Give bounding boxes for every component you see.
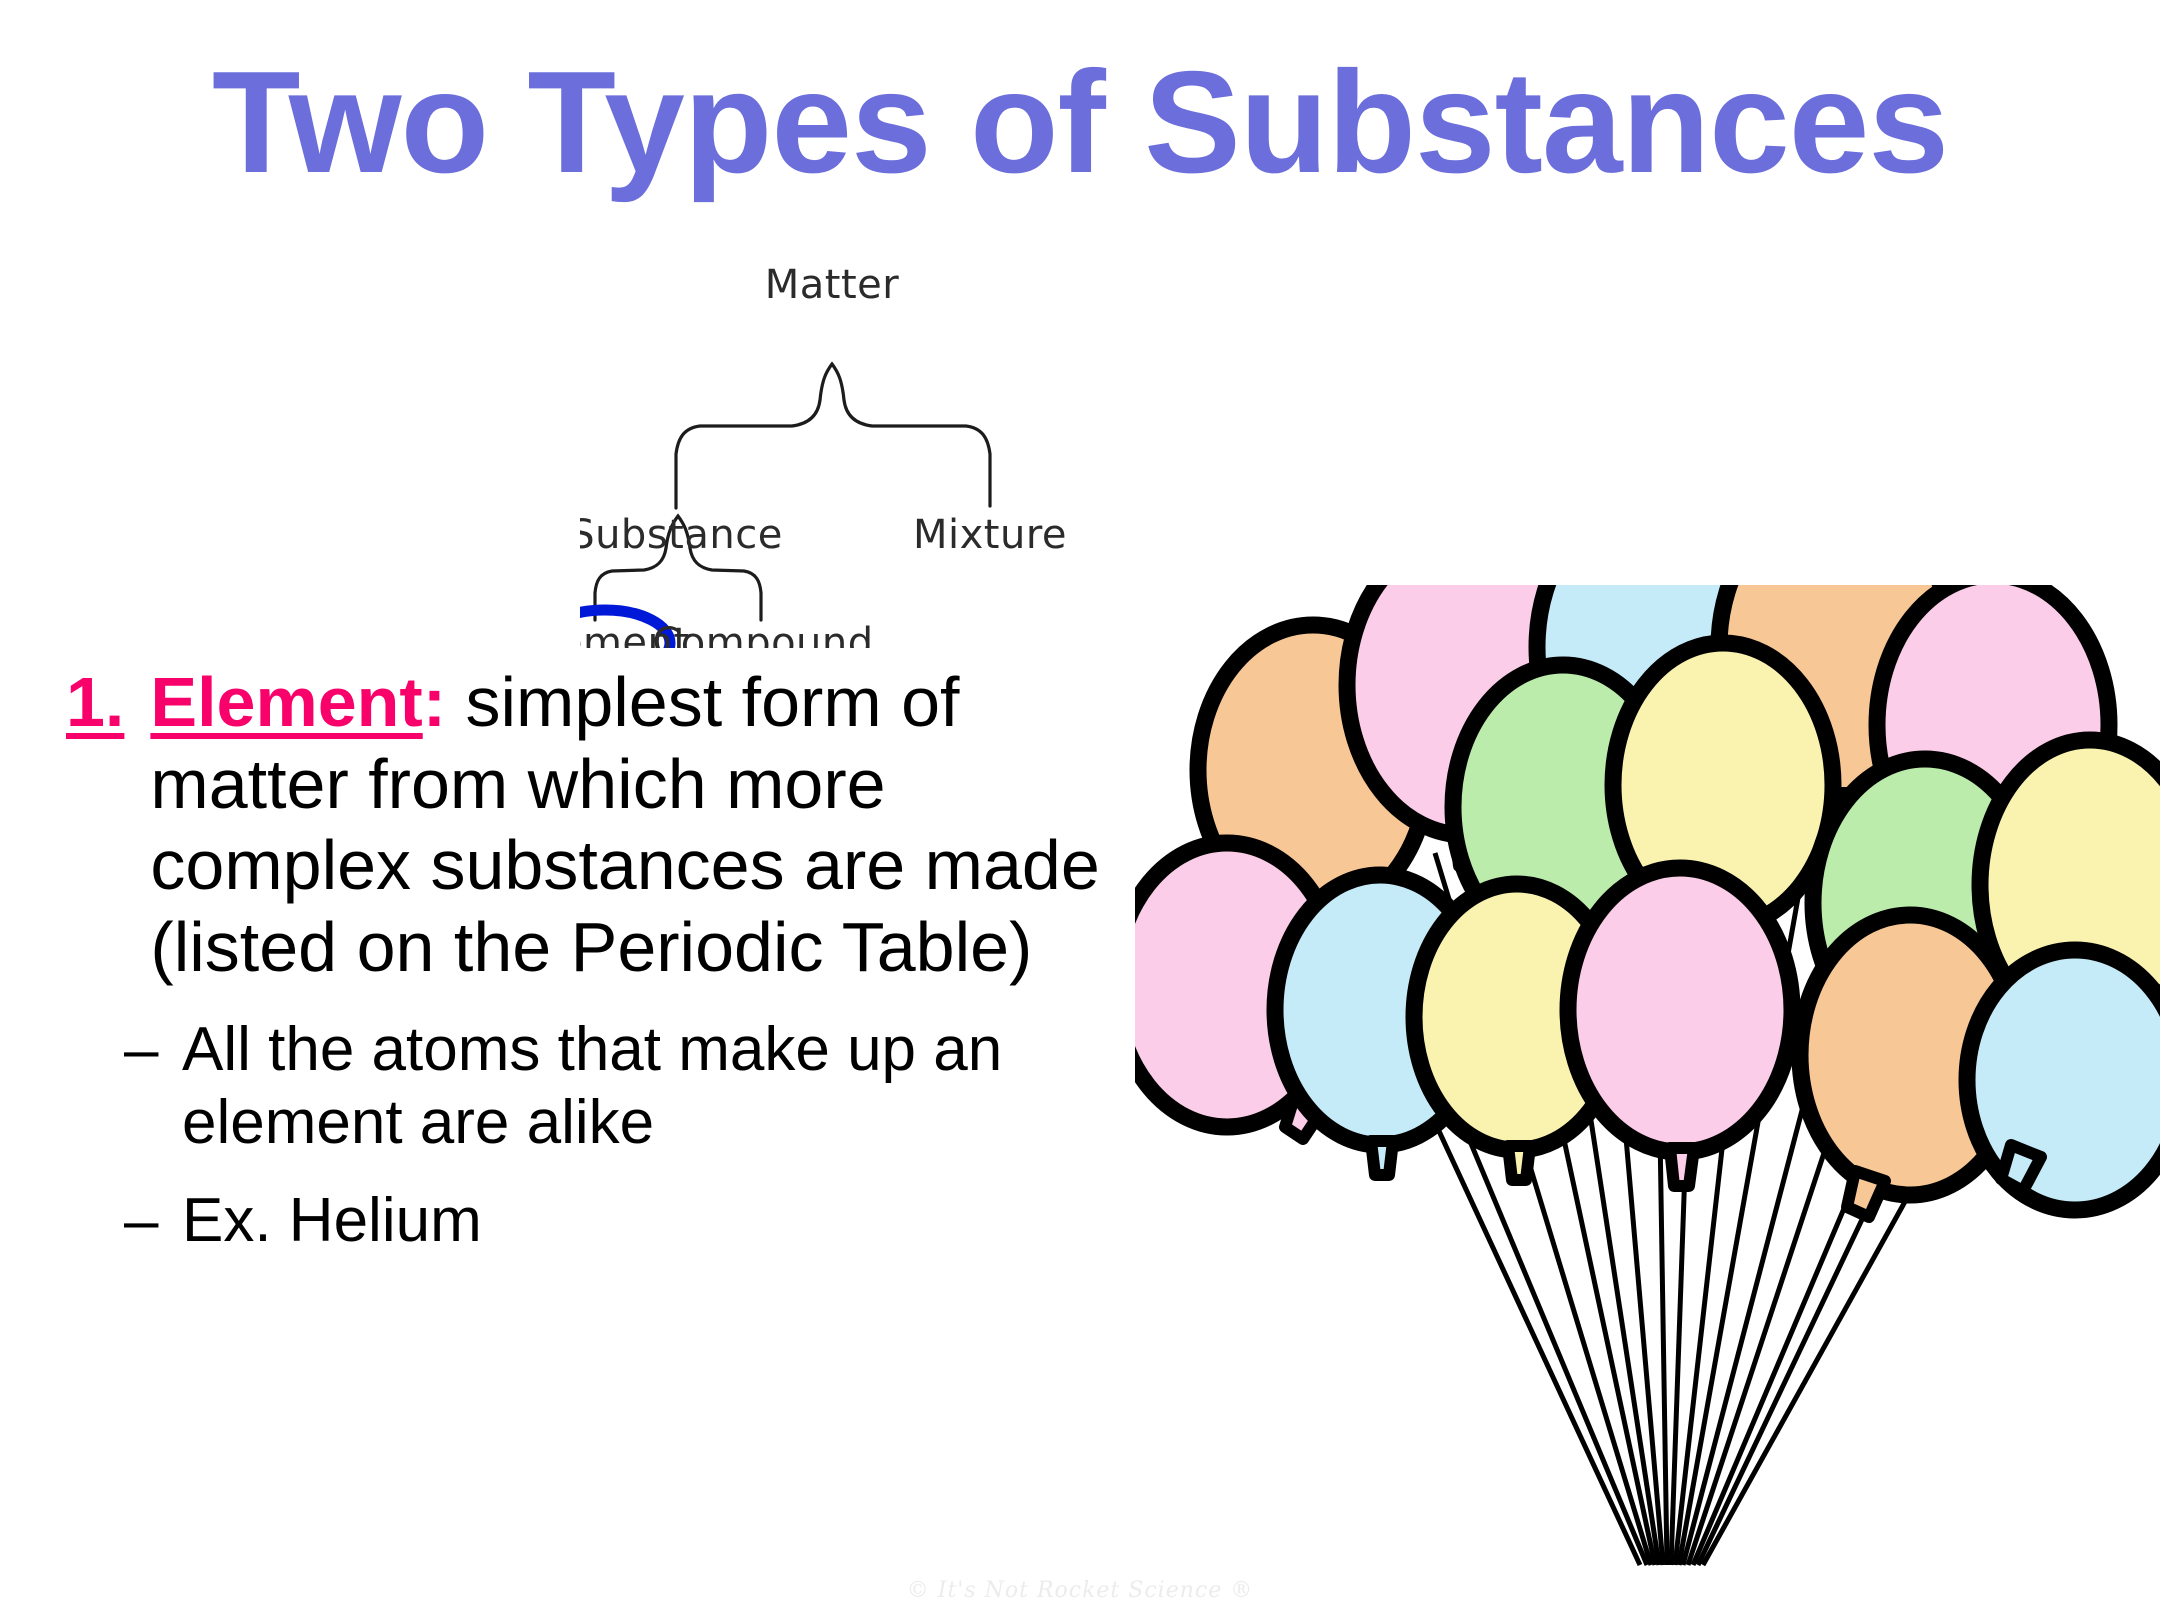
bullet-text: Element: simplest form of matter from wh… xyxy=(150,662,1126,988)
bullet-number: 1. xyxy=(66,662,124,744)
bullet-term: Element xyxy=(150,663,422,741)
page-title: Two Types of Substances xyxy=(0,46,2160,198)
sub-bullet-marker: – xyxy=(124,1014,182,1087)
sub-bullet-item: – All the atoms that make up an element … xyxy=(124,1014,1126,1159)
slide-body: 1. Element: simplest form of matter from… xyxy=(66,662,1126,1258)
sub-bullet-item: – Ex. Helium xyxy=(124,1185,1126,1258)
main-bullet-item: 1. Element: simplest form of matter from… xyxy=(66,662,1126,988)
copyright-watermark: © It's Not Rocket Science ® xyxy=(0,1578,2160,1603)
diagram-node-compound: Compound xyxy=(652,620,873,648)
sub-bullet-marker: – xyxy=(124,1185,182,1258)
sub-bullet-text: Ex. Helium xyxy=(182,1185,1062,1258)
balloon-bunch-illustration xyxy=(1135,585,2160,1595)
bullet-colon: : xyxy=(423,663,446,741)
balloon-blue xyxy=(1967,950,2160,1210)
diagram-node-substance: Substance xyxy=(580,512,783,558)
connector-matter-to-children xyxy=(676,364,990,508)
diagram-node-mixture: Mixture xyxy=(913,512,1067,558)
balloon-pink xyxy=(1568,868,1792,1186)
diagram-node-matter: Matter xyxy=(765,262,900,308)
sub-bullet-text: All the atoms that make up an element ar… xyxy=(182,1014,1062,1159)
